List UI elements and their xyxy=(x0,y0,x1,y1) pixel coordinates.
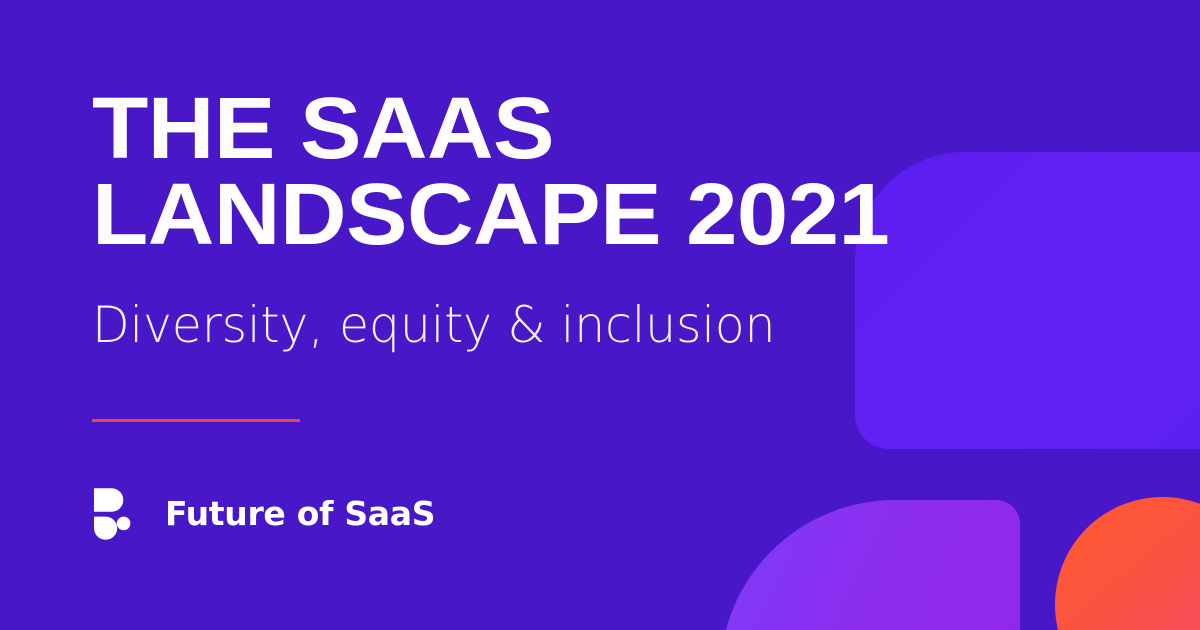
logo-mark-wrapper xyxy=(92,485,148,541)
page-subtitle: Diversity, equity & inclusion xyxy=(92,298,775,353)
card-content: THE SAAS LANDSCAPE 2021 Diversity, equit… xyxy=(92,0,992,630)
page-title: THE SAAS LANDSCAPE 2021 xyxy=(92,86,889,257)
orange-pink-gradient-circle-shape xyxy=(1055,497,1200,630)
future-of-saas-logo-icon xyxy=(92,485,148,541)
accent-divider xyxy=(92,419,300,422)
brand-name-label: Future of SaaS xyxy=(165,497,435,530)
brand-lockup: Future of SaaS xyxy=(92,485,435,541)
title-card: THE SAAS LANDSCAPE 2021 Diversity, equit… xyxy=(0,0,1200,630)
